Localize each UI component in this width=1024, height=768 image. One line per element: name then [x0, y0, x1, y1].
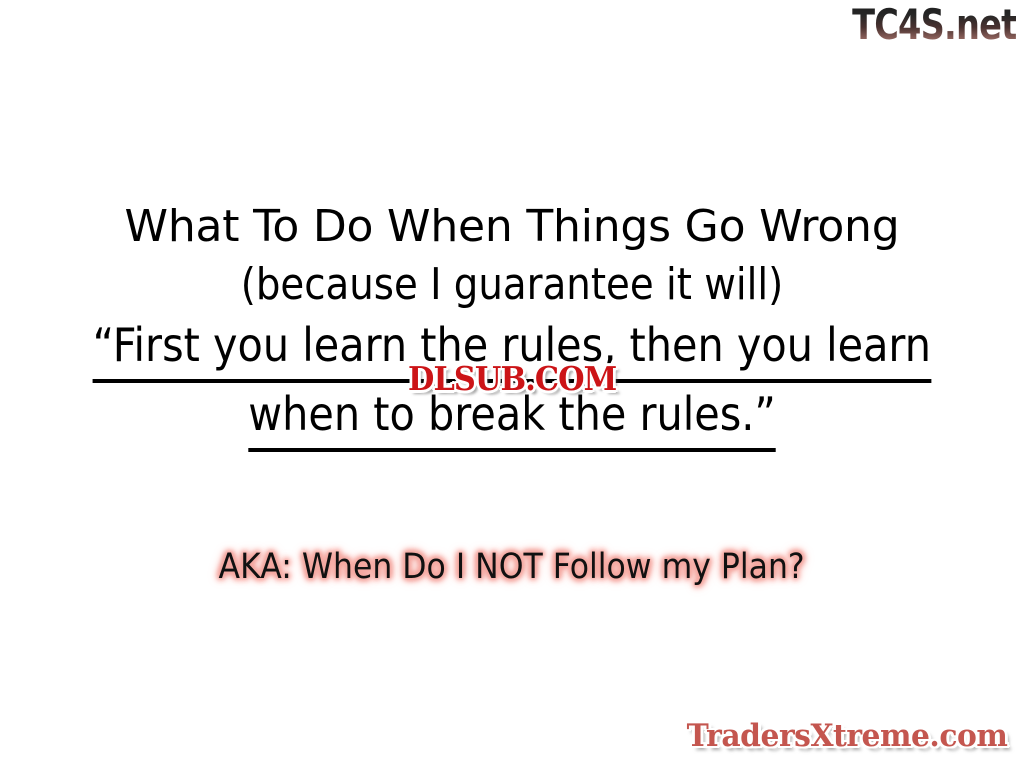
headline-line-1: What To Do When Things Go Wrong [0, 198, 1024, 256]
tradersxtreme-watermark-text: TradersXtreme.com [687, 716, 1008, 756]
tc4s-brand-logo: TC4S.net [852, 2, 1016, 48]
subheading-text: AKA: When Do I NOT Follow my Plan? [219, 544, 805, 590]
slide-canvas: TC4S.net What To Do When Things Go Wrong… [0, 0, 1024, 768]
headline-line-4: when to break the rules.” [248, 383, 776, 452]
headline-line-2: (because I guarantee it will) [61, 256, 962, 314]
headline-line-3: “First you learn the rules, then you lea… [93, 314, 931, 383]
headline-block: What To Do When Things Go Wrong (because… [0, 198, 1024, 452]
bottom-right-watermark: TradersXtreme.com [680, 716, 1014, 756]
subheading-block: AKA: When Do I NOT Follow my Plan? [0, 544, 1024, 590]
